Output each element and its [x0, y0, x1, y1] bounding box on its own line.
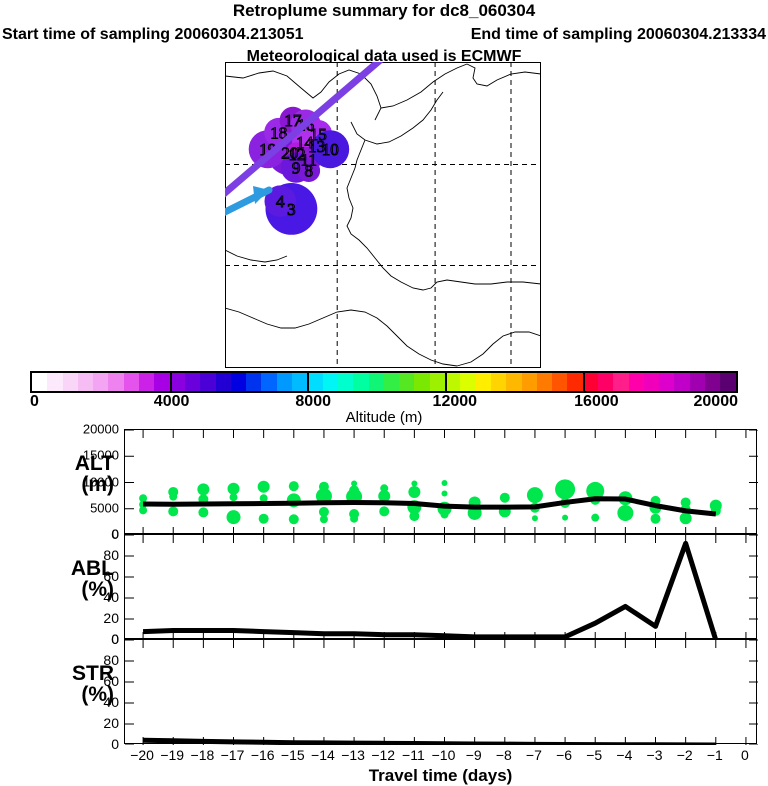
xtick-label: −6	[556, 747, 572, 763]
altitude-bubble	[408, 486, 420, 498]
colorbar-swatch	[154, 373, 169, 391]
xtick-label: 0	[741, 747, 749, 763]
altitude-bubble	[198, 507, 208, 517]
xtick-label: −13	[341, 747, 365, 763]
altitude-bubble	[139, 506, 147, 514]
altitude-bubble	[562, 515, 568, 521]
xtick-label: −7	[526, 747, 542, 763]
colorbar-swatch	[185, 373, 200, 391]
colorbar-divider	[307, 373, 309, 391]
colorbar-swatch	[108, 373, 123, 391]
start-time-label: Start time of sampling 20060304.213051	[2, 26, 304, 44]
abl-ytick-labels: 0204060800	[66, 534, 119, 639]
xtick-label: −5	[586, 747, 602, 763]
colorbar-swatch	[292, 373, 307, 391]
plume-blob-label: 8	[304, 162, 313, 181]
series-line	[143, 543, 716, 640]
colorbar-swatch	[200, 373, 215, 391]
xtick-label: −11	[402, 747, 425, 763]
colorbar-swatch	[369, 373, 384, 391]
altitude-colorbar	[30, 371, 738, 393]
xtick-label: −16	[251, 747, 275, 763]
altitude-bubble	[289, 514, 299, 524]
altitude-bubble	[379, 506, 389, 516]
colorbar-swatch	[231, 373, 246, 391]
colorbar-swatch	[720, 373, 735, 391]
xtick-label: −4	[616, 747, 632, 763]
series-line	[143, 740, 716, 745]
colorbar-swatch	[323, 373, 338, 391]
ytick-label: 10000	[83, 474, 119, 489]
colorbar-swatch	[522, 373, 537, 391]
plume-blob-label: 3	[287, 200, 296, 219]
colorbar-swatch	[537, 373, 552, 391]
colorbar-swatch	[307, 373, 322, 391]
colorbar-swatch	[246, 373, 261, 391]
altitude-bubble	[230, 493, 238, 501]
ytick-label: 80	[103, 547, 119, 563]
timeseries-panels: ALT (m) ABL (%) STR (%) 0500010000150002…	[0, 425, 768, 768]
alt-ytick-labels: 05000100001500020000	[66, 429, 119, 534]
colorbar-swatch	[598, 373, 613, 391]
colorbar-swatch	[705, 373, 720, 391]
altitude-bubble	[442, 480, 448, 486]
colorbar-divider	[445, 373, 447, 391]
colorbar-swatch	[674, 373, 689, 391]
colorbar-swatch	[338, 373, 353, 391]
page-title: Retroplume summary for dc8_060304	[0, 1, 768, 21]
ytick-label: 0	[111, 736, 119, 752]
colorbar-swatch	[644, 373, 659, 391]
ytick-label: 40	[103, 589, 119, 605]
abl-panel	[124, 534, 757, 639]
colorbar-swatch	[261, 373, 276, 391]
ytick-label: 20000	[83, 422, 119, 437]
map-canvas: 20191817161514131211109834	[225, 62, 541, 368]
ytick-label: 80	[103, 652, 119, 668]
colorbar-swatch	[613, 373, 628, 391]
altitude-bubble	[442, 491, 448, 497]
ytick-label: 15000	[83, 448, 119, 463]
xtick-label: −8	[496, 747, 512, 763]
str-ytick-labels: 0204060800	[66, 639, 119, 744]
altitude-bubble	[289, 481, 299, 491]
ytick-label: 60	[103, 568, 119, 584]
xtick-label: −1	[707, 747, 723, 763]
colorbar-swatch	[567, 373, 582, 391]
plume-blob-label: 4	[276, 192, 285, 211]
altitude-bubble	[532, 515, 538, 521]
colorbar-swatch	[476, 373, 491, 391]
altitude-bubble	[169, 493, 177, 501]
xaxis-tick-labels: −20−19−18−17−16−15−14−13−12−11−10−9−8−7−…	[124, 747, 757, 767]
ytick-label: 0	[111, 526, 119, 542]
xtick-label: −10	[432, 747, 456, 763]
colorbar-swatch	[460, 373, 475, 391]
altitude-bubble	[411, 481, 417, 487]
altitude-bubble	[168, 506, 178, 516]
xtick-label: −3	[647, 747, 663, 763]
ytick-label: 40	[103, 694, 119, 710]
plume-blob-label: 10	[322, 140, 339, 159]
colorbar-swatch	[430, 373, 445, 391]
xtick-label: −20	[130, 747, 154, 763]
str-panel	[124, 639, 757, 744]
colorbar-swatch	[552, 373, 567, 391]
retroplume-map: 20191817161514131211109834	[225, 62, 541, 368]
colorbar-swatch	[170, 373, 185, 391]
altitude-bubble	[258, 481, 270, 493]
colorbar-swatch	[93, 373, 108, 391]
ytick-label: 0	[111, 631, 119, 647]
ytick-label: 60	[103, 673, 119, 689]
xtick-label: −19	[160, 747, 184, 763]
colorbar-swatch	[414, 373, 429, 391]
xtick-label: −2	[677, 747, 693, 763]
colorbar-swatch	[139, 373, 154, 391]
xaxis-title: Travel time (days)	[124, 766, 757, 786]
altitude-bubble	[500, 493, 510, 503]
colorbar-swatch	[445, 373, 460, 391]
altitude-bubble	[680, 512, 692, 524]
colorbar-swatch	[399, 373, 414, 391]
colorbar-divider	[583, 373, 585, 391]
ytick-label: 20	[103, 715, 119, 731]
str-plot-canvas	[125, 640, 758, 745]
altitude-bubble	[651, 514, 661, 524]
colorbar-swatch	[124, 373, 139, 391]
colorbar-swatch	[216, 373, 231, 391]
altitude-bubble	[555, 479, 575, 499]
abl-plot-canvas	[125, 535, 758, 640]
colorbar-swatch	[277, 373, 292, 391]
altitude-bubble	[320, 515, 328, 523]
alt-panel	[124, 429, 757, 534]
retroplume-summary-figure: Retroplume summary for dc8_060304 Start …	[0, 0, 768, 768]
altitude-bubble	[441, 511, 449, 519]
altitude-bubble	[197, 483, 209, 495]
colorbar-swatch	[491, 373, 506, 391]
colorbar-swatch	[78, 373, 93, 391]
colorbar-swatch	[629, 373, 644, 391]
xtick-label: −17	[221, 747, 245, 763]
end-time-label: End time of sampling 20060304.213334	[471, 26, 766, 44]
colorbar-swatch	[690, 373, 705, 391]
altitude-bubble	[591, 514, 599, 522]
xtick-label: −9	[466, 747, 482, 763]
colorbar-swatch	[384, 373, 399, 391]
colorbar-divider	[170, 373, 172, 391]
altitude-bubble	[350, 515, 358, 523]
colorbar-swatch	[63, 373, 78, 391]
xtick-label: −15	[281, 747, 305, 763]
altitude-bubble	[409, 511, 419, 521]
xtick-label: −14	[311, 747, 335, 763]
xtick-label: −18	[191, 747, 215, 763]
altitude-bubble	[617, 505, 633, 521]
colorbar-swatch	[506, 373, 521, 391]
colorbar-swatch	[47, 373, 62, 391]
colorbar-swatch	[32, 373, 47, 391]
colorbar-swatch	[353, 373, 368, 391]
altitude-bubble	[259, 514, 269, 524]
xtick-label: −12	[371, 747, 395, 763]
altitude-bubble	[227, 510, 241, 524]
ytick-label: 20	[103, 610, 119, 626]
colorbar-swatch	[659, 373, 674, 391]
colorbar-swatch	[583, 373, 598, 391]
altitude-bubble	[527, 487, 543, 503]
altitude-bubble	[228, 483, 240, 495]
alt-plot-canvas	[125, 430, 758, 535]
ytick-label: 5000	[90, 500, 119, 515]
plume-blob-label: 9	[292, 159, 301, 178]
